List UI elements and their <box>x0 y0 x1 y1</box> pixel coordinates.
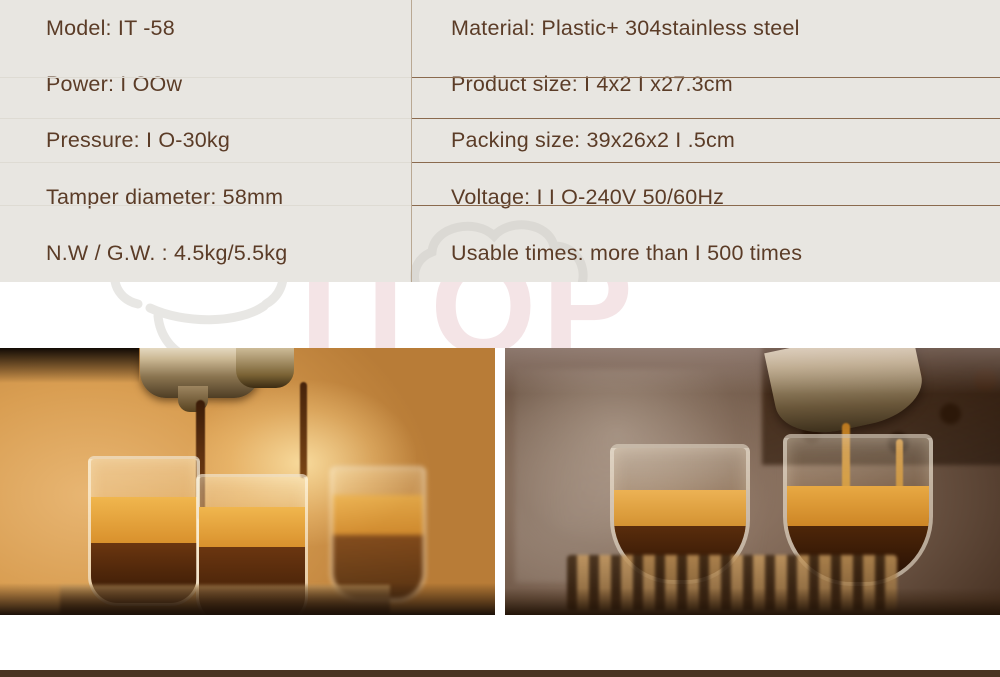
spec-cell-usable-times: Usable times: more than I 500 times <box>411 226 1000 282</box>
bottom-accent-bar <box>0 670 1000 677</box>
spec-cell-power: Power: I OOw <box>0 56 411 112</box>
photo-espresso-pouring-into-two-shot-glasses <box>0 348 495 615</box>
spec-cell-model: Model: IT -58 <box>0 0 411 56</box>
product-spec-banner: Model: IT -58 Material: Plastic+ 304stai… <box>0 0 1000 677</box>
chef-hat-watermark-tail-icon <box>98 282 318 348</box>
spec-cell-pressure: Pressure: I O-30kg <box>0 113 411 169</box>
product-photo-row <box>0 348 1000 615</box>
spec-cell-material: Material: Plastic+ 304stainless steel <box>411 0 1000 56</box>
bottom-white-strip <box>0 615 1000 670</box>
brand-watermark-band: ITOP <box>0 282 1000 348</box>
spec-cell-voltage: Voltage: I I O-240V 50/60Hz <box>411 169 1000 225</box>
spec-grid: Model: IT -58 Material: Plastic+ 304stai… <box>0 0 1000 282</box>
spec-cell-net-gross-weight: N.W / G.W. : 4.5kg/5.5kg <box>0 226 411 282</box>
spec-cell-product-size: Product size: I 4x2 I x27.3cm <box>411 56 1000 112</box>
spec-cell-tamper-diameter: Tamper diameter: 58mm <box>0 169 411 225</box>
itop-wordmark: ITOP <box>300 282 639 348</box>
specification-table: Model: IT -58 Material: Plastic+ 304stai… <box>0 0 1000 282</box>
photo-espresso-pouring-with-coffee-beans <box>505 348 1000 615</box>
shot-glass <box>330 466 426 602</box>
column-divider <box>411 0 412 282</box>
spec-cell-packing-size: Packing size: 39x26x2 I .5cm <box>411 113 1000 169</box>
espresso-stream <box>300 382 307 478</box>
